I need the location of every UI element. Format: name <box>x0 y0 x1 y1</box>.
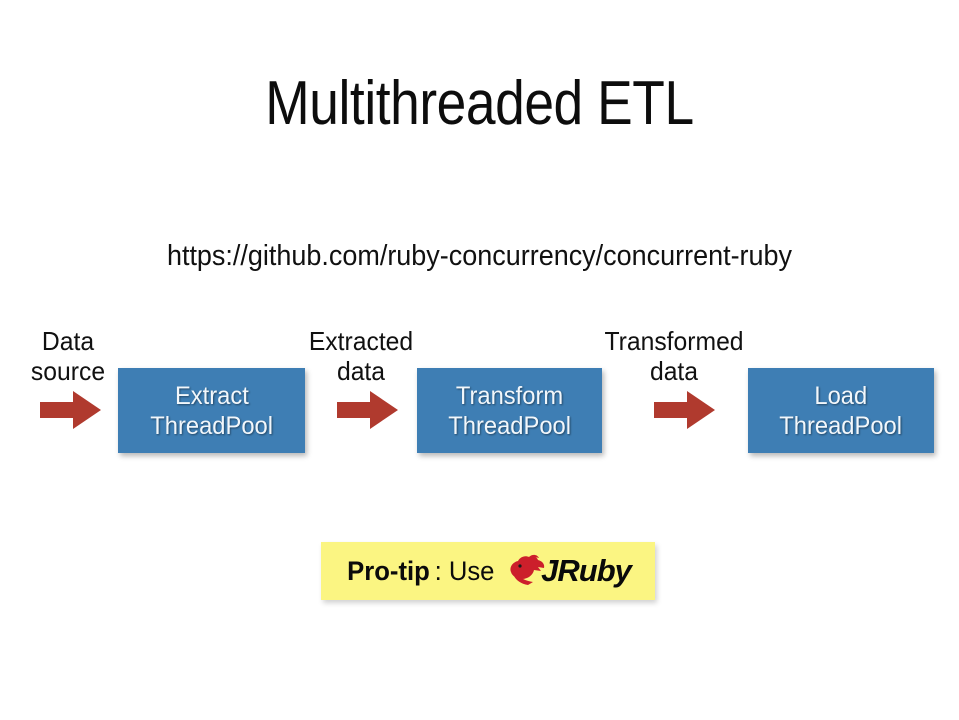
threadpool-box-load: Load ThreadPool <box>748 368 934 453</box>
flow-label-line2: source <box>11 356 125 386</box>
jruby-logo: JRuby <box>508 551 631 591</box>
threadpool-box-line1: Load <box>815 381 868 411</box>
protip-banner: Pro-tip : Use JRuby <box>321 542 655 600</box>
arrow-right-icon <box>654 388 716 432</box>
jruby-wordmark: JRuby <box>541 554 631 588</box>
flow-label-transformed-data: Transformed data <box>590 326 757 386</box>
repository-url-text: https://github.com/ruby-concurrency/conc… <box>34 240 926 273</box>
threadpool-box-line2: ThreadPool <box>150 411 273 441</box>
threadpool-box-line1: Extract <box>175 381 249 411</box>
flow-label-extracted-data: Extracted data <box>294 326 429 386</box>
protip-label-strong: Pro-tip <box>347 556 430 587</box>
arrow-right-icon <box>337 388 399 432</box>
flow-label-line2: data <box>590 356 757 386</box>
threadpool-box-extract: Extract ThreadPool <box>118 368 305 453</box>
threadpool-box-line2: ThreadPool <box>448 411 571 441</box>
protip-label-rest: : Use <box>435 556 495 587</box>
flow-label-line1: Extracted <box>294 326 429 356</box>
threadpool-box-transform: Transform ThreadPool <box>417 368 602 453</box>
flow-label-data-source: Data source <box>11 326 125 386</box>
page-title: Multithreaded ETL <box>67 68 892 139</box>
slide-canvas: Multithreaded ETL https://github.com/rub… <box>0 0 959 720</box>
flow-label-line2: data <box>294 356 429 386</box>
flow-label-line1: Transformed <box>590 326 757 356</box>
etl-pipeline-diagram: Data source Extract ThreadPool Extracted… <box>0 320 959 470</box>
flow-label-line1: Data <box>11 326 125 356</box>
threadpool-box-line1: Transform <box>456 381 563 411</box>
threadpool-box-line2: ThreadPool <box>780 411 903 441</box>
arrow-right-icon <box>40 388 102 432</box>
